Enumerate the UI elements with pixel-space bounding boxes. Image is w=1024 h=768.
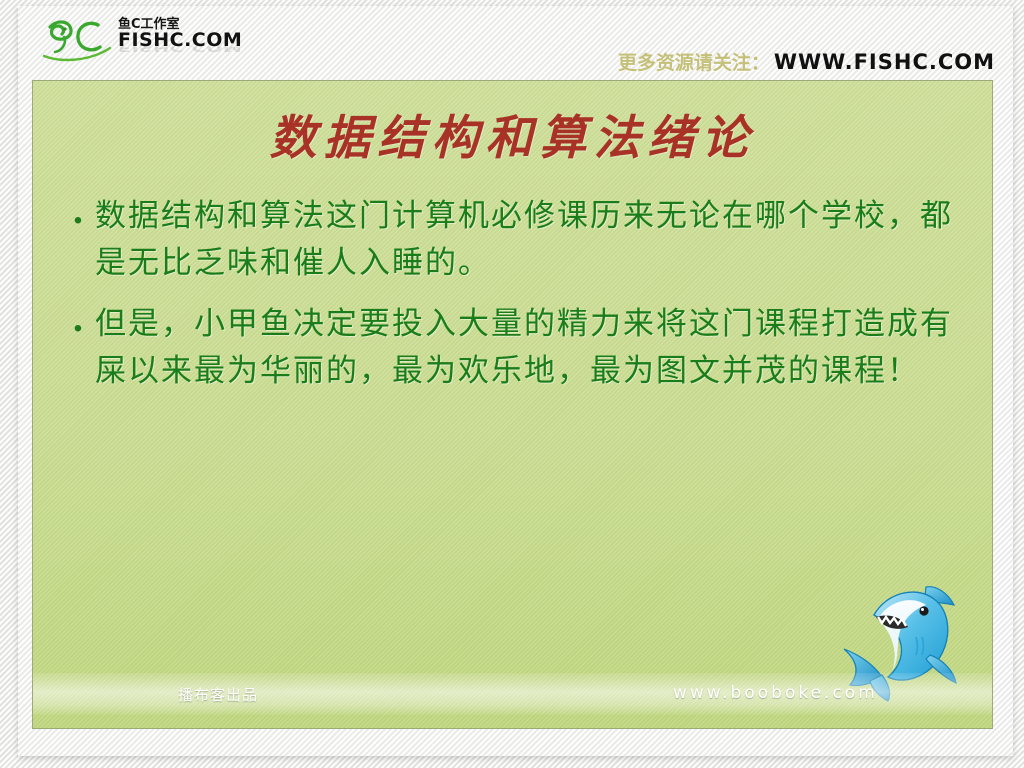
- bullet-text: 数据结构和算法这门计算机必修课历来无论在哪个学校，都是无比乏味和催人入睡的。: [95, 193, 966, 287]
- promo-url: WWW.FISHC.COM: [774, 50, 995, 74]
- slide-canvas: 数据结构和算法绪论 • 数据结构和算法这门计算机必修课历来无论在哪个学校，都是无…: [32, 80, 993, 729]
- footer-website-url: www.booboke.com: [673, 683, 878, 703]
- fishc-brush-logo-icon: [40, 15, 114, 67]
- page-title: 数据结构和算法绪论: [33, 99, 992, 168]
- presentation-page: 鱼C工作室 FISHC.COM FISHC.COM 更多资源请关注：WWW.FI…: [0, 0, 1024, 768]
- list-item: • 但是，小甲鱼决定要投入大量的精力来将这门课程打造成有屎以来最为华丽的，最为欢…: [61, 301, 966, 395]
- logo-wordmark: 鱼C工作室 FISHC.COM FISHC.COM: [118, 18, 242, 65]
- bullet-marker-icon: •: [61, 301, 95, 341]
- page-header: 鱼C工作室 FISHC.COM FISHC.COM 更多资源请关注：WWW.FI…: [18, 6, 1013, 80]
- promo-cn-text: 更多资源请关注：: [618, 52, 770, 74]
- slide-footer: 播布客出品 www.booboke.com: [33, 673, 992, 715]
- bullet-marker-icon: •: [61, 193, 95, 233]
- list-item: • 数据结构和算法这门计算机必修课历来无论在哪个学校，都是无比乏味和催人入睡的。: [61, 193, 966, 287]
- fishc-logo[interactable]: 鱼C工作室 FISHC.COM FISHC.COM: [40, 12, 242, 70]
- logo-reflection: FISHC.COM: [118, 47, 242, 53]
- bullet-list: • 数据结构和算法这门计算机必修课历来无论在哪个学校，都是无比乏味和催人入睡的。…: [61, 193, 966, 409]
- footer-producer-text: 播布客出品: [178, 684, 258, 705]
- bullet-text: 但是，小甲鱼决定要投入大量的精力来将这门课程打造成有屎以来最为华丽的，最为欢乐地…: [95, 301, 966, 395]
- promo-banner: 更多资源请关注：WWW.FISHC.COM: [618, 48, 995, 75]
